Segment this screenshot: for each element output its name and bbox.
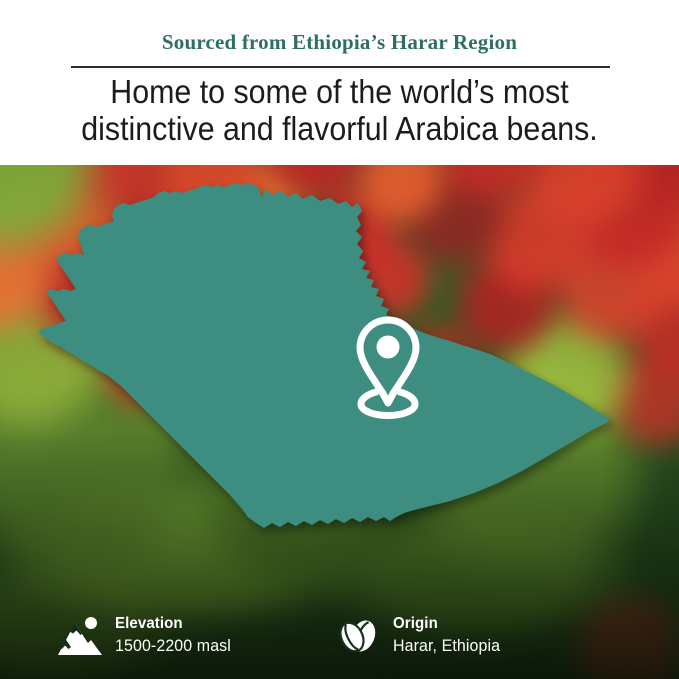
- coffee-bean-icon: [336, 615, 380, 655]
- stat-origin-value: Harar, Ethiopia: [393, 637, 500, 654]
- stat-elevation: Elevation 1500-2200 masl: [58, 615, 238, 655]
- stat-origin: Origin Harar, Ethiopia: [336, 615, 507, 655]
- stat-elevation-value: 1500-2200 masl: [115, 637, 231, 654]
- map-pin-icon[interactable]: [352, 312, 424, 420]
- page-title: Home to some of the world’s most distinc…: [27, 73, 652, 147]
- ethiopia-country-shape: [38, 183, 610, 528]
- stat-elevation-text: Elevation 1500-2200 masl: [115, 616, 238, 654]
- photo-panel: Elevation 1500-2200 masl Origin Harar, E…: [0, 165, 679, 679]
- stats-bar: Elevation 1500-2200 masl Origin Harar, E…: [0, 590, 679, 679]
- stat-origin-text: Origin Harar, Ethiopia: [393, 616, 507, 654]
- stat-elevation-label: Elevation: [115, 616, 231, 632]
- infographic-card: Sourced from Ethiopia’s Harar Region Hom…: [0, 0, 679, 679]
- headline-line-2: distinctive and flavorful Arabica beans.: [27, 110, 652, 147]
- eyebrow-text: Sourced from Ethiopia’s Harar Region: [0, 30, 679, 55]
- stat-origin-label: Origin: [393, 616, 500, 632]
- header-section: Sourced from Ethiopia’s Harar Region Hom…: [0, 0, 679, 165]
- headline-line-1: Home to some of the world’s most: [27, 73, 652, 110]
- map-pin-teardrop: [360, 320, 416, 403]
- mountain-icon: [58, 615, 102, 655]
- map-pin-center-dot: [377, 336, 400, 359]
- header-divider: [71, 66, 610, 68]
